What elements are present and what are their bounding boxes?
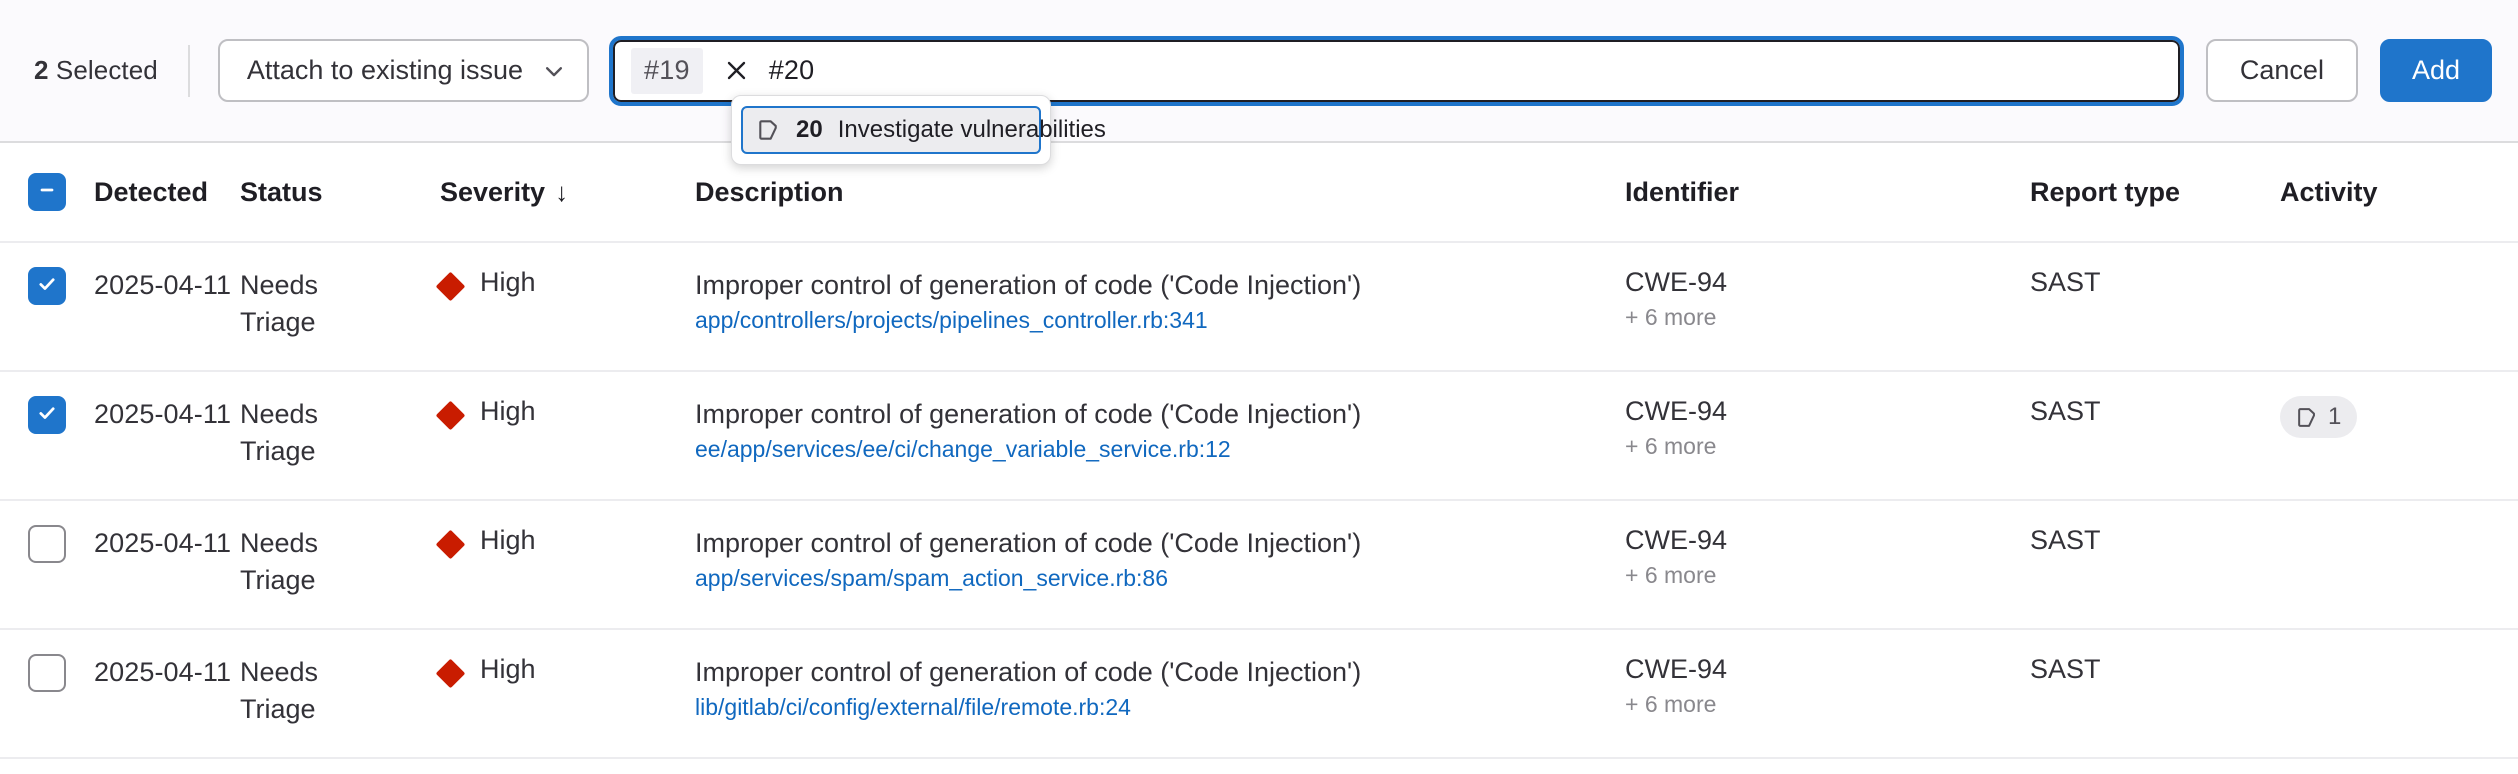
header-status-label: Status [240, 177, 323, 208]
cell-severity-label: High [480, 267, 536, 298]
cell-description-title: Improper control of generation of code (… [695, 396, 1625, 432]
table-row[interactable]: 2025-04-11 Needs Triage High Improper co… [0, 630, 2518, 759]
severity-high-icon [436, 401, 466, 431]
cell-activity: 1 [2280, 396, 2440, 438]
cell-identifier-more: + 6 more [1625, 691, 2030, 718]
cell-report-type: SAST [2030, 525, 2280, 556]
table-header-row: Detected Status Severity ↓ Description I… [0, 143, 2518, 243]
issue-suggestion-title: Investigate vulnerabilities [838, 116, 1106, 144]
cell-report-type-text: SAST [2030, 267, 2280, 298]
issue-suggestion-item[interactable]: 20 Investigate vulnerabilities [741, 106, 1041, 154]
row-checkbox[interactable] [28, 654, 66, 692]
cell-description-title: Improper control of generation of code (… [695, 525, 1625, 561]
row-select-cell [0, 525, 94, 568]
header-report-type[interactable]: Report type [2030, 177, 2280, 208]
cell-status-text: Needs Triage [240, 267, 370, 342]
check-icon [36, 402, 58, 429]
severity-high-icon [436, 659, 466, 689]
row-checkbox[interactable] [28, 525, 66, 563]
header-status[interactable]: Status [240, 177, 440, 208]
cell-description-title: Improper control of generation of code (… [695, 654, 1625, 690]
cell-description: Improper control of generation of code (… [695, 267, 1625, 334]
cell-status-text: Needs Triage [240, 654, 370, 729]
cell-identifier-more: + 6 more [1625, 433, 2030, 460]
chevron-down-icon [543, 60, 565, 82]
cell-description-location-link[interactable]: app/controllers/projects/pipelines_contr… [695, 307, 1625, 334]
header-severity-label: Severity [440, 177, 545, 208]
header-severity[interactable]: Severity ↓ [440, 177, 695, 208]
header-cell-select-all [0, 173, 94, 211]
row-checkbox[interactable] [28, 396, 66, 434]
issue-icon [2296, 406, 2319, 429]
header-identifier-label: Identifier [1625, 177, 1739, 208]
add-button[interactable]: Add [2380, 39, 2492, 102]
bulk-action-toolbar: 2 Selected Attach to existing issue #19 [0, 0, 2518, 143]
selected-count: 2 Selected [34, 55, 158, 86]
issue-token-chip[interactable]: #19 [631, 48, 703, 94]
attach-to-existing-issue-label: Attach to existing issue [247, 55, 523, 86]
cancel-button[interactable]: Cancel [2206, 39, 2358, 102]
cell-status: Needs Triage [240, 267, 440, 342]
cell-description: Improper control of generation of code (… [695, 654, 1625, 721]
header-report-type-label: Report type [2030, 177, 2180, 208]
dash-icon [37, 180, 57, 205]
issue-token-typed-value: #20 [765, 55, 815, 86]
issue-suggestion-id: 20 [796, 116, 823, 144]
cell-detected: 2025-04-11 [94, 267, 240, 304]
issue-suggestions-dropdown: 20 Investigate vulnerabilities [731, 95, 1051, 165]
cell-severity: High [440, 396, 695, 427]
selected-count-label: Selected [56, 55, 158, 85]
cell-severity: High [440, 525, 695, 556]
row-select-cell [0, 654, 94, 697]
issue-token-chip-label: #19 [644, 55, 690, 86]
issue-token-field-wrap: #19 #20 20 Investigate [613, 40, 2180, 102]
table-row[interactable]: 2025-04-11 Needs Triage High Improper co… [0, 372, 2518, 501]
vulnerability-table: Detected Status Severity ↓ Description I… [0, 143, 2518, 759]
issue-token-input[interactable]: #19 #20 [613, 40, 2180, 102]
header-detected-label: Detected [94, 177, 208, 208]
cell-detected: 2025-04-11 [94, 654, 240, 691]
vulnerability-report-page: 2 Selected Attach to existing issue #19 [0, 0, 2518, 774]
cell-report-type-text: SAST [2030, 654, 2280, 685]
header-detected[interactable]: Detected [94, 177, 240, 208]
cancel-button-label: Cancel [2240, 55, 2324, 86]
header-description-label: Description [695, 177, 844, 208]
cell-report-type: SAST [2030, 396, 2280, 427]
cell-identifier-main: CWE-94 [1625, 525, 2030, 556]
cell-severity: High [440, 654, 695, 685]
cell-description-location-link[interactable]: app/services/spam/spam_action_service.rb… [695, 565, 1625, 592]
cell-description-location-link[interactable]: lib/gitlab/ci/config/external/file/remot… [695, 694, 1625, 721]
cell-report-type: SAST [2030, 267, 2280, 298]
close-icon[interactable] [715, 49, 759, 93]
cell-description-title: Improper control of generation of code (… [695, 267, 1625, 303]
cell-description: Improper control of generation of code (… [695, 396, 1625, 463]
cell-status-text: Needs Triage [240, 525, 370, 600]
check-icon [36, 273, 58, 300]
cell-severity-label: High [480, 396, 536, 427]
add-button-label: Add [2412, 55, 2460, 86]
cell-status: Needs Triage [240, 525, 440, 600]
cell-status-text: Needs Triage [240, 396, 370, 471]
activity-badge[interactable]: 1 [2280, 396, 2357, 438]
cell-status: Needs Triage [240, 396, 440, 471]
cell-report-type: SAST [2030, 654, 2280, 685]
cell-identifier-more: + 6 more [1625, 304, 2030, 331]
table-row[interactable]: 2025-04-11 Needs Triage High Improper co… [0, 243, 2518, 372]
cell-identifier-main: CWE-94 [1625, 654, 2030, 685]
cell-identifier-more: + 6 more [1625, 562, 2030, 589]
cell-detected: 2025-04-11 [94, 525, 240, 562]
issue-icon [757, 118, 781, 142]
cell-identifier-main: CWE-94 [1625, 396, 2030, 427]
header-description[interactable]: Description [695, 177, 1625, 208]
cell-identifier: CWE-94 + 6 more [1625, 396, 2030, 460]
header-identifier[interactable]: Identifier [1625, 177, 2030, 208]
row-checkbox[interactable] [28, 267, 66, 305]
cell-identifier: CWE-94 + 6 more [1625, 654, 2030, 718]
row-select-cell [0, 396, 94, 434]
header-activity-label: Activity [2280, 177, 2378, 208]
severity-high-icon [436, 272, 466, 302]
cell-identifier-main: CWE-94 [1625, 267, 2030, 298]
cell-severity-label: High [480, 525, 536, 556]
sort-descending-icon: ↓ [555, 177, 568, 208]
attach-to-existing-issue-dropdown[interactable]: Attach to existing issue [218, 39, 589, 102]
row-select-cell [0, 267, 94, 305]
cell-description: Improper control of generation of code (… [695, 525, 1625, 592]
select-all-checkbox[interactable] [28, 173, 66, 211]
header-activity[interactable]: Activity [2280, 177, 2440, 208]
activity-badge-count: 1 [2328, 403, 2341, 431]
severity-high-icon [436, 530, 466, 560]
cell-severity-label: High [480, 654, 536, 685]
cell-identifier: CWE-94 + 6 more [1625, 267, 2030, 331]
cell-status: Needs Triage [240, 654, 440, 729]
cell-description-location-link[interactable]: ee/app/services/ee/ci/change_variable_se… [695, 436, 1625, 463]
toolbar-divider [188, 45, 190, 97]
table-row[interactable]: 2025-04-11 Needs Triage High Improper co… [0, 501, 2518, 630]
selected-count-number: 2 [34, 55, 49, 85]
cell-identifier: CWE-94 + 6 more [1625, 525, 2030, 589]
cell-detected: 2025-04-11 [94, 396, 240, 433]
cell-severity: High [440, 267, 695, 298]
cell-report-type-text: SAST [2030, 525, 2280, 556]
cell-report-type-text: SAST [2030, 396, 2280, 427]
